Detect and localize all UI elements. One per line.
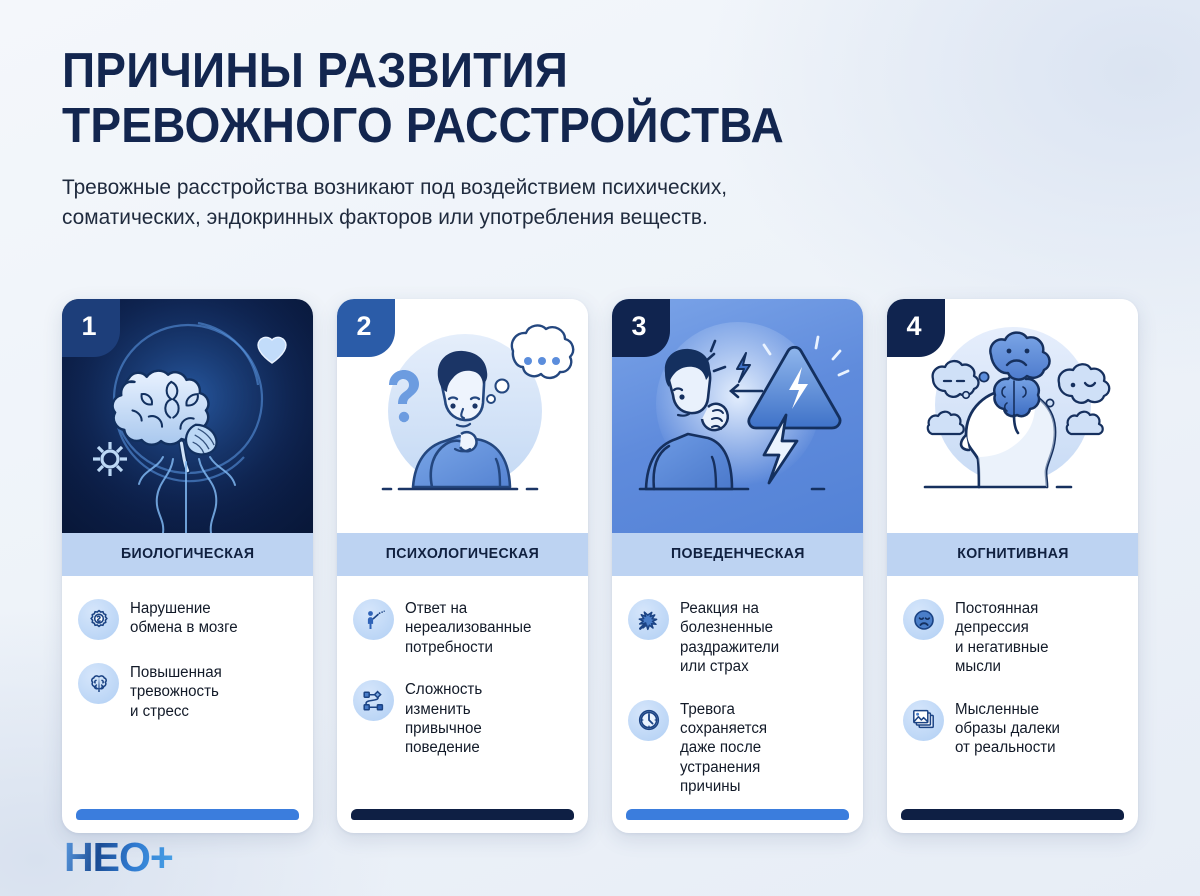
card-bullet-list: Постоянная депрессия и негативные мысли … <box>887 576 1138 809</box>
cards-row: 1 БИОЛОГИЧЕСКАЯ Нарушение обмена в мозге <box>62 299 1140 833</box>
sad-face-icon <box>903 599 944 640</box>
list-item: Повышенная тревожность и стресс <box>78 662 297 721</box>
card-bullet-list: Нарушение обмена в мозге Повышенная трев… <box>62 576 313 809</box>
card-number: 2 <box>356 313 371 340</box>
bullet-text: Мысленные образы далеки от реальности <box>955 699 1060 758</box>
bullet-text: Нарушение обмена в мозге <box>130 598 238 638</box>
card-number-badge: 1 <box>62 299 120 357</box>
infographic-page: ПРИЧИНЫ РАЗВИТИЯ ТРЕВОЖНОГО РАССТРОЙСТВА… <box>0 0 1200 896</box>
list-item: Тревога сохраняется даже после устранени… <box>628 699 847 797</box>
list-item: Постоянная депрессия и негативные мысли <box>903 598 1122 677</box>
bullet-text: Сложность изменить привычное поведение <box>405 679 482 758</box>
card-accent-bar <box>76 809 299 820</box>
card-cognitive[interactable]: 4 КОГНИТИВНАЯ Постоянная д <box>887 299 1138 833</box>
burst-icon <box>628 599 669 640</box>
illustration-brain-neural: 1 <box>62 299 313 533</box>
gear-brain-icon <box>78 599 119 640</box>
card-label: ПОВЕДЕНЧЕСКАЯ <box>671 545 805 562</box>
card-number: 3 <box>631 313 646 340</box>
card-number: 1 <box>81 313 96 340</box>
card-label: ПСИХОЛОГИЧЕСКАЯ <box>386 545 539 562</box>
card-biological[interactable]: 1 БИОЛОГИЧЕСКАЯ Нарушение обмена в мозге <box>62 299 313 833</box>
illustration-head-thought-clouds: 4 <box>887 299 1138 533</box>
bullet-text: Тревога сохраняется даже после устранени… <box>680 699 767 797</box>
card-accent-bar <box>901 809 1124 820</box>
card-label-band: КОГНИТИВНАЯ <box>887 533 1138 576</box>
page-subtitle: Тревожные расстройства возникают под воз… <box>62 172 1100 233</box>
card-label-band: БИОЛОГИЧЕСКАЯ <box>62 533 313 576</box>
illustration-thinking-person: 2 <box>337 299 588 533</box>
list-item: Реакция на болезненные раздражители или … <box>628 598 847 677</box>
brain-icon <box>78 663 119 704</box>
card-accent-bar <box>626 809 849 820</box>
list-item: Сложность изменить привычное поведение <box>353 679 572 758</box>
card-behavioral[interactable]: 3 ПОВЕДЕНЧЕСКАЯ Реакция на болезненные р… <box>612 299 863 833</box>
images-icon <box>903 700 944 741</box>
page-title: ПРИЧИНЫ РАЗВИТИЯ ТРЕВОЖНОГО РАССТРОЙСТВА <box>62 44 1068 154</box>
card-label-band: ПСИХОЛОГИЧЕСКАЯ <box>337 533 588 576</box>
illustration-startled-person: 3 <box>612 299 863 533</box>
bullet-text: Реакция на болезненные раздражители или … <box>680 598 779 677</box>
card-accent-bar <box>351 809 574 820</box>
bullet-text: Ответ на нереализованные потребности <box>405 598 531 657</box>
card-label-band: ПОВЕДЕНЧЕСКАЯ <box>612 533 863 576</box>
bullet-text: Повышенная тревожность и стресс <box>130 662 222 721</box>
card-label: БИОЛОГИЧЕСКАЯ <box>121 545 254 562</box>
clock-icon <box>628 700 669 741</box>
list-item: Нарушение обмена в мозге <box>78 598 297 640</box>
card-bullet-list: Ответ на нереализованные потребности <box>337 576 588 809</box>
card-number-badge: 2 <box>337 299 395 357</box>
brand-logo: НЕО+ <box>64 837 173 878</box>
header: ПРИЧИНЫ РАЗВИТИЯ ТРЕВОЖНОГО РАССТРОЙСТВА… <box>62 44 1132 233</box>
card-number: 4 <box>906 313 921 340</box>
card-bullet-list: Реакция на болезненные раздражители или … <box>612 576 863 809</box>
list-item: Ответ на нереализованные потребности <box>353 598 572 657</box>
card-label: КОГНИТИВНАЯ <box>957 545 1069 562</box>
list-item: Мысленные образы далеки от реальности <box>903 699 1122 758</box>
bullet-text: Постоянная депрессия и негативные мысли <box>955 598 1048 677</box>
card-psychological[interactable]: 2 ПСИХОЛОГИЧЕСКАЯ <box>337 299 588 833</box>
person-reaching-icon <box>353 599 394 640</box>
flowchart-icon <box>353 680 394 721</box>
card-number-badge: 4 <box>887 299 945 357</box>
card-number-badge: 3 <box>612 299 670 357</box>
